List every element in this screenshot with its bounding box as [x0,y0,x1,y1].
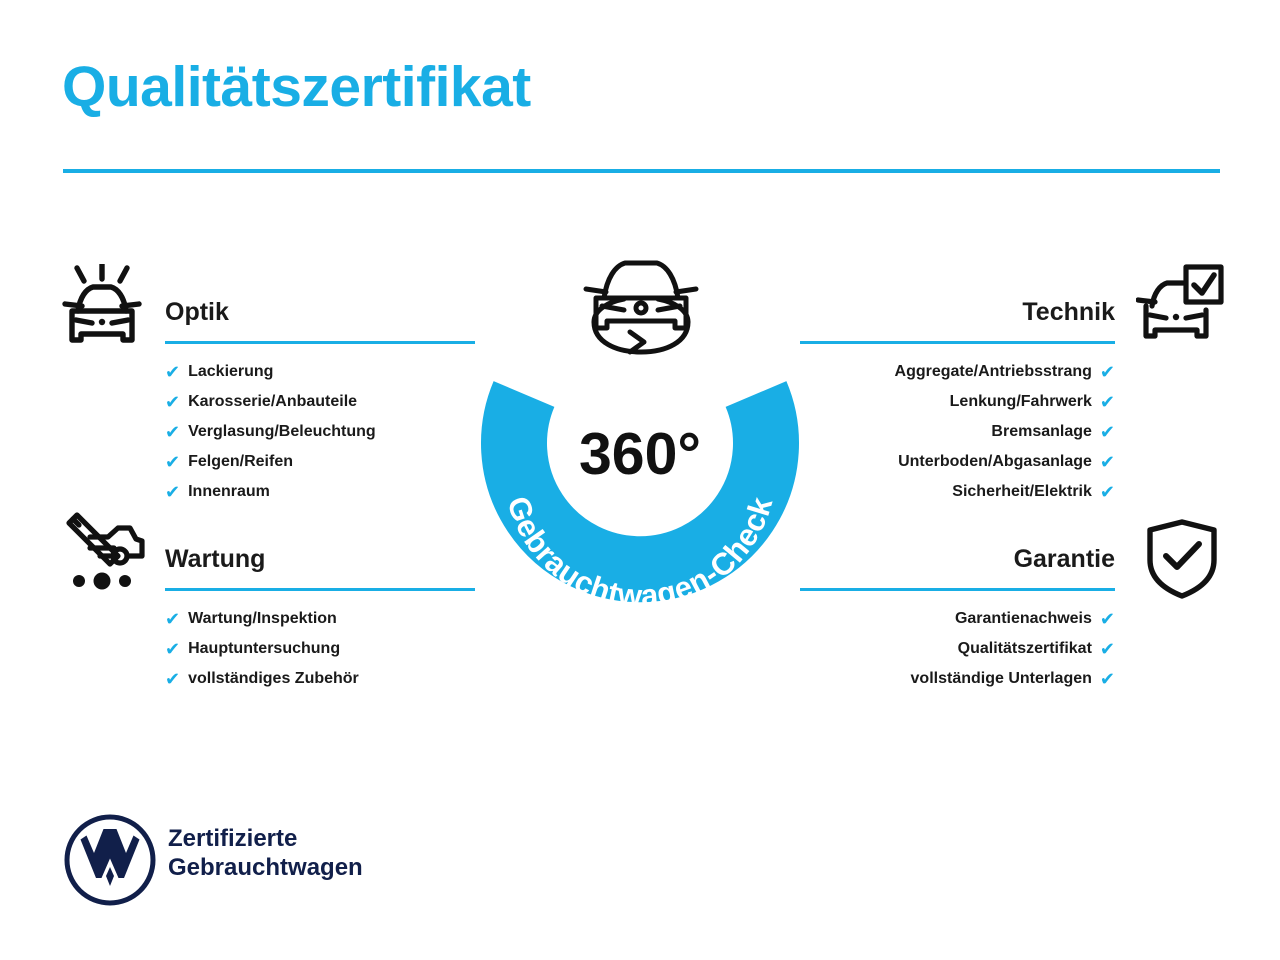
checklist-item: Sicherheit/Elektrik✔ [800,477,1115,507]
section-optik-header: Optik [165,296,475,344]
checklist-item: ✔Lackierung [165,357,475,387]
badge-value: 360° [579,421,701,487]
checklist-item-label: Garantienachweis [955,604,1092,634]
checklist-item-label: Innenraum [188,477,270,507]
checklist-item-label: Verglasung/Beleuchtung [188,417,376,447]
section-wartung: Wartung ✔Wartung/Inspektion✔Hauptuntersu… [165,543,475,694]
section-garantie-title: Garantie [800,543,1115,575]
check-icon: ✔ [1100,610,1115,628]
section-optik-divider [165,341,475,344]
check-icon: ✔ [165,640,180,658]
checklist-item-label: Aggregate/Antriebsstrang [895,357,1092,387]
section-technik-title: Technik [800,296,1115,328]
check-icon: ✔ [1100,453,1115,471]
checklist-item: ✔vollständiges Zubehör [165,664,475,694]
quality-certificate-page: Qualitätszertifikat [0,0,1280,960]
section-wartung-list: ✔Wartung/Inspektion✔Hauptuntersuchung✔vo… [165,604,475,694]
footer-line-2: Gebrauchtwagen [168,853,363,882]
title-divider [63,169,1220,173]
page-title: Qualitätszertifikat [62,58,531,118]
vw-roundel-logo [63,813,157,907]
check-icon: ✔ [1100,393,1115,411]
360-check-badge: Gebrauchtwagen-Check 360° [468,330,812,624]
section-wartung-title: Wartung [165,543,475,575]
check-icon: ✔ [165,610,180,628]
checklist-item-label: Unterboden/Abgasanlage [898,447,1092,477]
check-icon: ✔ [1100,483,1115,501]
car-shine-icon [62,264,142,350]
check-icon: ✔ [1100,363,1115,381]
checklist-item-label: Bremsanlage [991,417,1092,447]
checklist-item: Qualitätszertifikat✔ [800,634,1115,664]
section-technik: Technik Aggregate/Antriebsstrang✔Lenkung… [800,296,1115,507]
check-icon: ✔ [165,483,180,501]
checklist-item-label: Lenkung/Fahrwerk [950,387,1092,417]
section-optik: Optik ✔Lackierung✔Karosserie/Anbauteile✔… [165,296,475,507]
checklist-item-label: Karosserie/Anbauteile [188,387,357,417]
checklist-item-label: Qualitätszertifikat [958,634,1092,664]
check-icon: ✔ [165,393,180,411]
checklist-item-label: Felgen/Reifen [188,447,293,477]
section-garantie-header: Garantie [800,543,1115,591]
check-icon: ✔ [165,363,180,381]
checklist-item-label: Sicherheit/Elektrik [952,477,1092,507]
car-checkbox-icon [1136,264,1224,346]
section-garantie-list: Garantienachweis✔Qualitätszertifikat✔vol… [800,604,1115,694]
section-technik-divider [800,341,1115,344]
checklist-item-label: Wartung/Inspektion [188,604,337,634]
checklist-item: ✔Karosserie/Anbauteile [165,387,475,417]
checklist-item: Lenkung/Fahrwerk✔ [800,387,1115,417]
footer-brand-text: Zertifizierte Gebrauchtwagen [168,824,363,882]
checklist-item: Aggregate/Antriebsstrang✔ [800,357,1115,387]
check-icon: ✔ [165,670,180,688]
check-icon: ✔ [165,453,180,471]
checklist-item: Garantienachweis✔ [800,604,1115,634]
section-technik-header: Technik [800,296,1115,344]
section-garantie: Garantie Garantienachweis✔Qualitätszerti… [800,543,1115,694]
checklist-item: ✔Felgen/Reifen [165,447,475,477]
section-optik-list: ✔Lackierung✔Karosserie/Anbauteile✔Vergla… [165,357,475,507]
checklist-item: vollständige Unterlagen✔ [800,664,1115,694]
checklist-item: Bremsanlage✔ [800,417,1115,447]
checklist-item: ✔Innenraum [165,477,475,507]
section-wartung-header: Wartung [165,543,475,591]
checklist-item-label: vollständige Unterlagen [911,664,1092,694]
checklist-item-label: vollständiges Zubehör [188,664,359,694]
footer-line-1: Zertifizierte [168,824,363,853]
check-icon: ✔ [165,423,180,441]
section-garantie-divider [800,588,1115,591]
checklist-item-label: Lackierung [188,357,273,387]
section-optik-title: Optik [165,296,475,328]
section-technik-list: Aggregate/Antriebsstrang✔Lenkung/Fahrwer… [800,357,1115,507]
checklist-item: ✔Wartung/Inspektion [165,604,475,634]
car-service-wrench-icon [62,510,148,592]
checklist-item: ✔Hauptuntersuchung [165,634,475,664]
checklist-item: ✔Verglasung/Beleuchtung [165,417,475,447]
shield-check-icon [1145,518,1219,600]
check-icon: ✔ [1100,423,1115,441]
section-wartung-divider [165,588,475,591]
car-rotate-icon [568,252,714,364]
checklist-item-label: Hauptuntersuchung [188,634,340,664]
check-icon: ✔ [1100,670,1115,688]
check-icon: ✔ [1100,640,1115,658]
checklist-item: Unterboden/Abgasanlage✔ [800,447,1115,477]
